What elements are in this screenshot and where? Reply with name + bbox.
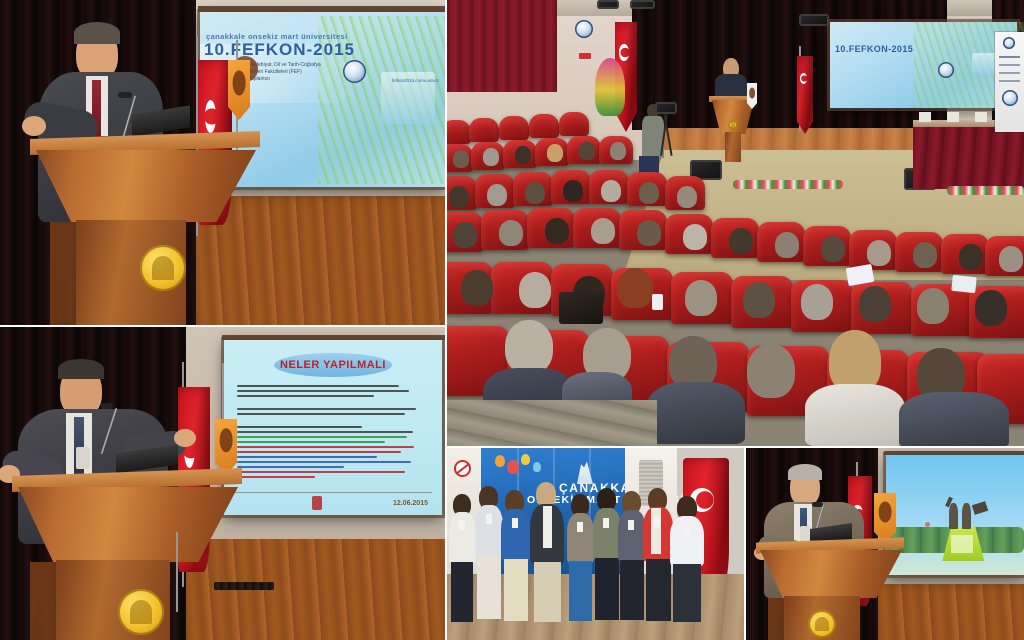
audience-shoulders: [899, 392, 1009, 446]
name-card-1: [919, 112, 931, 122]
slide-bullet-line: [237, 395, 374, 397]
slide-bullet-line: [237, 441, 385, 443]
person-body: [567, 513, 594, 563]
hot-air-balloon-icon: [495, 455, 505, 467]
seat: [529, 114, 559, 138]
crescent-icon-2: [619, 44, 629, 61]
aisle-steps: [447, 400, 657, 446]
slide-bullet-line: [237, 466, 344, 468]
name-badge: [486, 514, 492, 524]
audience-head: [483, 148, 499, 166]
presentation-screen: NELER YAPILMALI: [224, 340, 442, 515]
screen-event-title: 10.FEFKON-2015: [204, 40, 355, 60]
audience-head: [917, 288, 949, 324]
stage-turkish-flag: [797, 56, 813, 134]
briefcase: [559, 292, 603, 324]
audience-head: [775, 232, 799, 258]
person-legs: [620, 560, 644, 620]
slide-bullet-line: [237, 390, 409, 392]
audience-head: [453, 222, 477, 248]
divider-horizontal-right: [447, 446, 1024, 448]
person-legs: [569, 561, 592, 621]
audience-head: [685, 280, 717, 316]
audience-head: [683, 224, 707, 250]
slide-bullets: [237, 385, 432, 481]
person-body: [618, 510, 646, 562]
audience-head: [601, 180, 621, 202]
podium-side-bl: [30, 562, 62, 640]
floor-mic-stand: [176, 532, 178, 612]
audience-head: [453, 150, 469, 168]
audience-head: [729, 228, 753, 254]
audience-head: [913, 242, 937, 268]
monument-figure-2: [962, 503, 971, 529]
name-badge: [684, 526, 690, 536]
slide-bullet-line: [237, 408, 416, 410]
audience-head-blonde: [829, 330, 881, 392]
audience-head: [449, 186, 469, 208]
divider-vertical-bottom: [744, 448, 746, 640]
audience-head: [499, 220, 523, 246]
slide-bullet-line: [237, 471, 405, 473]
audience-head: [959, 244, 983, 270]
audience-head: [579, 142, 595, 160]
person-body: [501, 509, 530, 561]
ceiling-projector: [799, 14, 829, 26]
audience-head: [515, 146, 531, 164]
name-badge: [628, 520, 634, 530]
video-camera: [655, 102, 677, 114]
slide-bullet-line: [237, 426, 362, 428]
balloon-dot: [925, 522, 930, 527]
screen-university-logo: [343, 60, 366, 83]
audience-head: [867, 240, 891, 266]
stage-floor: [196, 196, 445, 325]
slide-bullet-line: [237, 436, 407, 438]
slide-bullet-line: [237, 451, 401, 453]
person-legs: [477, 555, 501, 619]
collage-title: 10. FEFKON-2015 Konferans Fotoğraf Kolaj…: [0, 0, 20, 1]
crescent-icon: [205, 100, 217, 133]
slide-bullet-line: [237, 413, 405, 415]
audience-head: [639, 182, 659, 204]
seat: [559, 112, 589, 136]
slide-footer-rule: [234, 492, 432, 493]
name-card-2: [947, 112, 959, 122]
microphone-icon: [118, 92, 132, 98]
rollup-banner-logo: [1003, 37, 1015, 49]
person-legs: [595, 558, 619, 620]
rollup-banner: [995, 32, 1024, 132]
stage-flower-row-right: [947, 186, 1024, 195]
monument-flag: [972, 501, 988, 515]
name-badge: [459, 520, 465, 530]
hot-air-balloon-icon: [521, 454, 530, 465]
stage-podium-base: [725, 132, 741, 162]
monument-projection-screen: [886, 455, 1024, 575]
hot-air-balloon-icon: [507, 460, 519, 474]
slide-footer-logo: [312, 496, 322, 510]
wall-university-seal: [575, 20, 593, 38]
audience-head: [743, 282, 775, 318]
slide-date: 12.06.2015: [393, 500, 428, 507]
audience-head: [975, 290, 1007, 326]
audience-head: [821, 236, 845, 262]
name-badge: [577, 522, 583, 532]
audience-head: [801, 284, 833, 320]
seat: [499, 116, 529, 140]
name-badge: [603, 518, 609, 528]
slide-bullet-line: [237, 385, 399, 387]
slide-bullet-line: [237, 456, 377, 458]
audience-head: [999, 246, 1023, 272]
cable-tray: [214, 582, 274, 590]
seat: [469, 118, 499, 142]
no-smoking-icon: [454, 460, 471, 477]
audience-head: [505, 320, 553, 374]
divider-vertical-main: [445, 0, 447, 640]
emergency-sign: [579, 53, 591, 59]
person-body: [475, 505, 503, 557]
ceiling-speaker-right: [630, 0, 655, 9]
name-badge: [512, 518, 518, 528]
audience-head: [525, 182, 545, 204]
monument-figure-1: [949, 503, 958, 529]
stage-projection-screen: 10.FEFKON-2015: [830, 22, 1017, 108]
panel-bottom-center[interactable]: ÇANAKKALE ONSEKİZ MART ÜNİVERSİTESİ: [447, 448, 744, 640]
photo-collage: çanakkale onsekiz mart üniversitesi 10.F…: [0, 0, 1024, 640]
podium-side: [50, 222, 82, 325]
crescent-icon-3: [800, 73, 807, 84]
monument-plaque: [951, 535, 973, 553]
stage-podium-emblem: [728, 120, 738, 130]
audience-head: [461, 270, 493, 306]
head-table-skirt: [913, 127, 1024, 189]
audience-head: [487, 184, 507, 206]
divider-horizontal-left: [0, 325, 445, 327]
microphone-icon-bl: [100, 403, 113, 409]
person-legs: [451, 562, 473, 622]
audience-head: [563, 180, 583, 202]
panel-bottom-left[interactable]: NELER YAPILMALI: [0, 327, 445, 640]
side-curtain-left: [447, 0, 557, 92]
stage-flower-row-left: [733, 180, 843, 189]
audience-head: [677, 186, 697, 208]
ceiling-speaker-left: [597, 0, 619, 9]
name-badge: [654, 517, 660, 527]
podium-university-emblem: [140, 245, 186, 291]
panel-top-right[interactable]: 10.FEFKON-2015: [447, 0, 1024, 446]
rollup-banner-logo-2: [1002, 90, 1018, 106]
stage-screen-title: 10.FEFKON-2015: [835, 44, 913, 54]
audience-shoulders: [805, 384, 905, 446]
person-body: [593, 508, 621, 560]
hot-air-balloon-icon: [533, 462, 541, 472]
person-legs: [534, 562, 561, 622]
audience-head: [859, 286, 891, 322]
audience-shoulders: [647, 382, 745, 444]
audience-head: [610, 142, 626, 160]
name-card-3: [975, 112, 987, 122]
panel-bottom-right[interactable]: [746, 448, 1024, 640]
podium-side-br: [768, 598, 786, 640]
screen-website: fefkon2015.comu.edu.tr: [392, 78, 439, 83]
audience-head: [591, 218, 615, 244]
slide-title: NELER YAPILMALI: [274, 353, 392, 377]
slide-bullet-line: [237, 446, 414, 448]
slide-bullet-line: [237, 461, 411, 463]
podium-university-emblem-bl: [118, 589, 164, 635]
stage-screen-logo: [938, 62, 954, 78]
panel-top-left[interactable]: çanakkale onsekiz mart üniversitesi 10.F…: [0, 0, 445, 325]
person-legs: [646, 559, 671, 621]
slide-bullet-line: [237, 431, 413, 433]
person-legs: [673, 564, 701, 622]
microphone-icon-br: [812, 502, 823, 507]
person-body: [670, 516, 704, 566]
audience-head: [547, 144, 563, 162]
floral-arrangement: [595, 58, 625, 116]
program-booklet: [951, 275, 977, 293]
mobile-phone: [652, 294, 663, 310]
audience-head: [747, 344, 795, 398]
person-legs: [504, 559, 528, 621]
audience-head: [519, 272, 551, 308]
floor-br: [878, 584, 1024, 640]
name-badge: [76, 447, 90, 469]
slide-bullet-line: [237, 476, 315, 478]
audience-head-redhair: [617, 268, 653, 308]
seat: [447, 120, 471, 144]
audience-head: [545, 218, 569, 244]
podium-university-emblem-br: [808, 610, 836, 638]
audience-head: [637, 220, 661, 246]
